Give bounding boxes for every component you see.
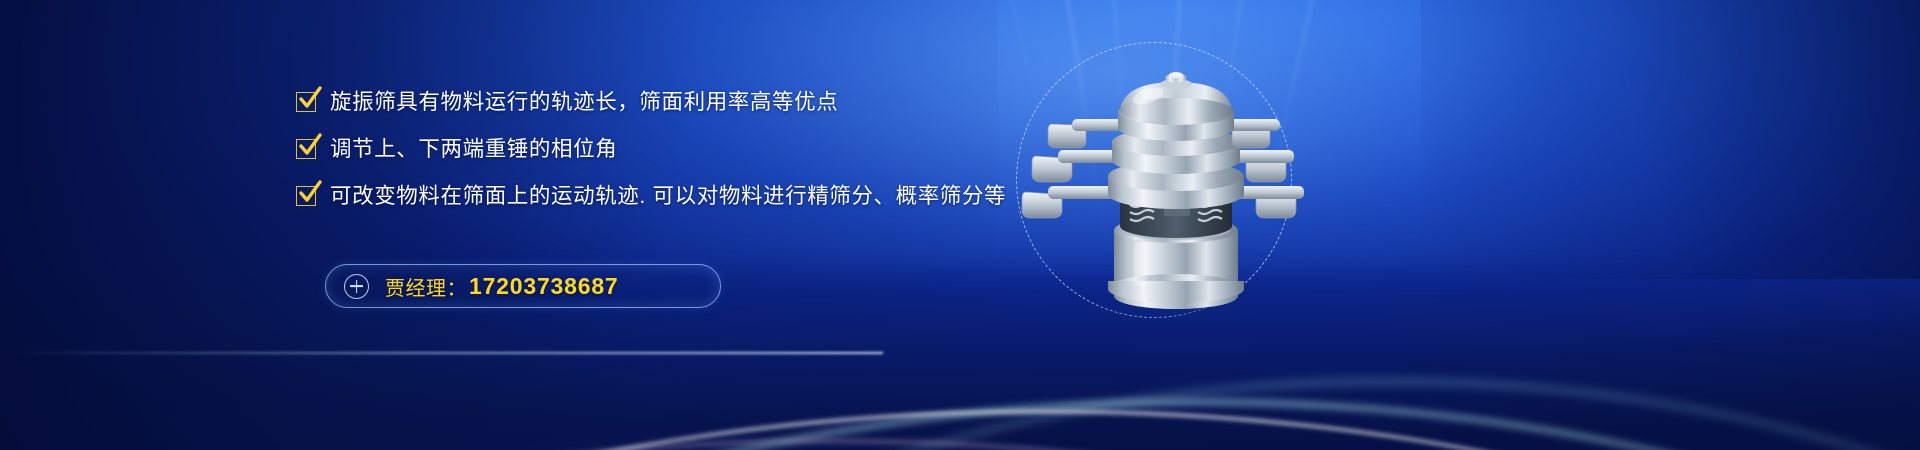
list-item-label: 旋振筛具有物料运行的轨迹长，筛面利用率高等优点 xyxy=(330,88,838,116)
contact-name: 贾经理： xyxy=(385,272,467,301)
plus-circle-icon xyxy=(344,274,369,299)
list-item-label: 可改变物料在筛面上的运动轨迹. 可以对物料进行精筛分、概率筛分等 xyxy=(330,182,1006,210)
list-item: 调节上、下两端重锤的相位角 xyxy=(296,135,1006,165)
check-box-icon xyxy=(296,139,316,159)
contact-phone: 17203738687 xyxy=(469,273,619,300)
rotary-vibrating-sieve-illustration xyxy=(1008,60,1338,320)
list-item-label: 调节上、下两端重锤的相位角 xyxy=(330,135,617,163)
promo-banner: 旋振筛具有物料运行的轨迹长，筛面利用率高等优点 调节上、下两端重锤的相位角 可改… xyxy=(0,0,1920,450)
content-area: 旋振筛具有物料运行的轨迹长，筛面利用率高等优点 调节上、下两端重锤的相位角 可改… xyxy=(0,0,1010,450)
check-box-icon xyxy=(296,186,316,206)
list-item: 可改变物料在筛面上的运动轨迹. 可以对物料进行精筛分、概率筛分等 xyxy=(296,182,1006,212)
list-item: 旋振筛具有物料运行的轨迹长，筛面利用率高等优点 xyxy=(296,88,1006,118)
check-box-icon xyxy=(296,92,316,112)
feature-list: 旋振筛具有物料运行的轨迹长，筛面利用率高等优点 调节上、下两端重锤的相位角 可改… xyxy=(296,88,1006,229)
contact-button[interactable]: 贾经理： 17203738687 xyxy=(325,264,721,308)
product-image xyxy=(1010,22,1330,342)
